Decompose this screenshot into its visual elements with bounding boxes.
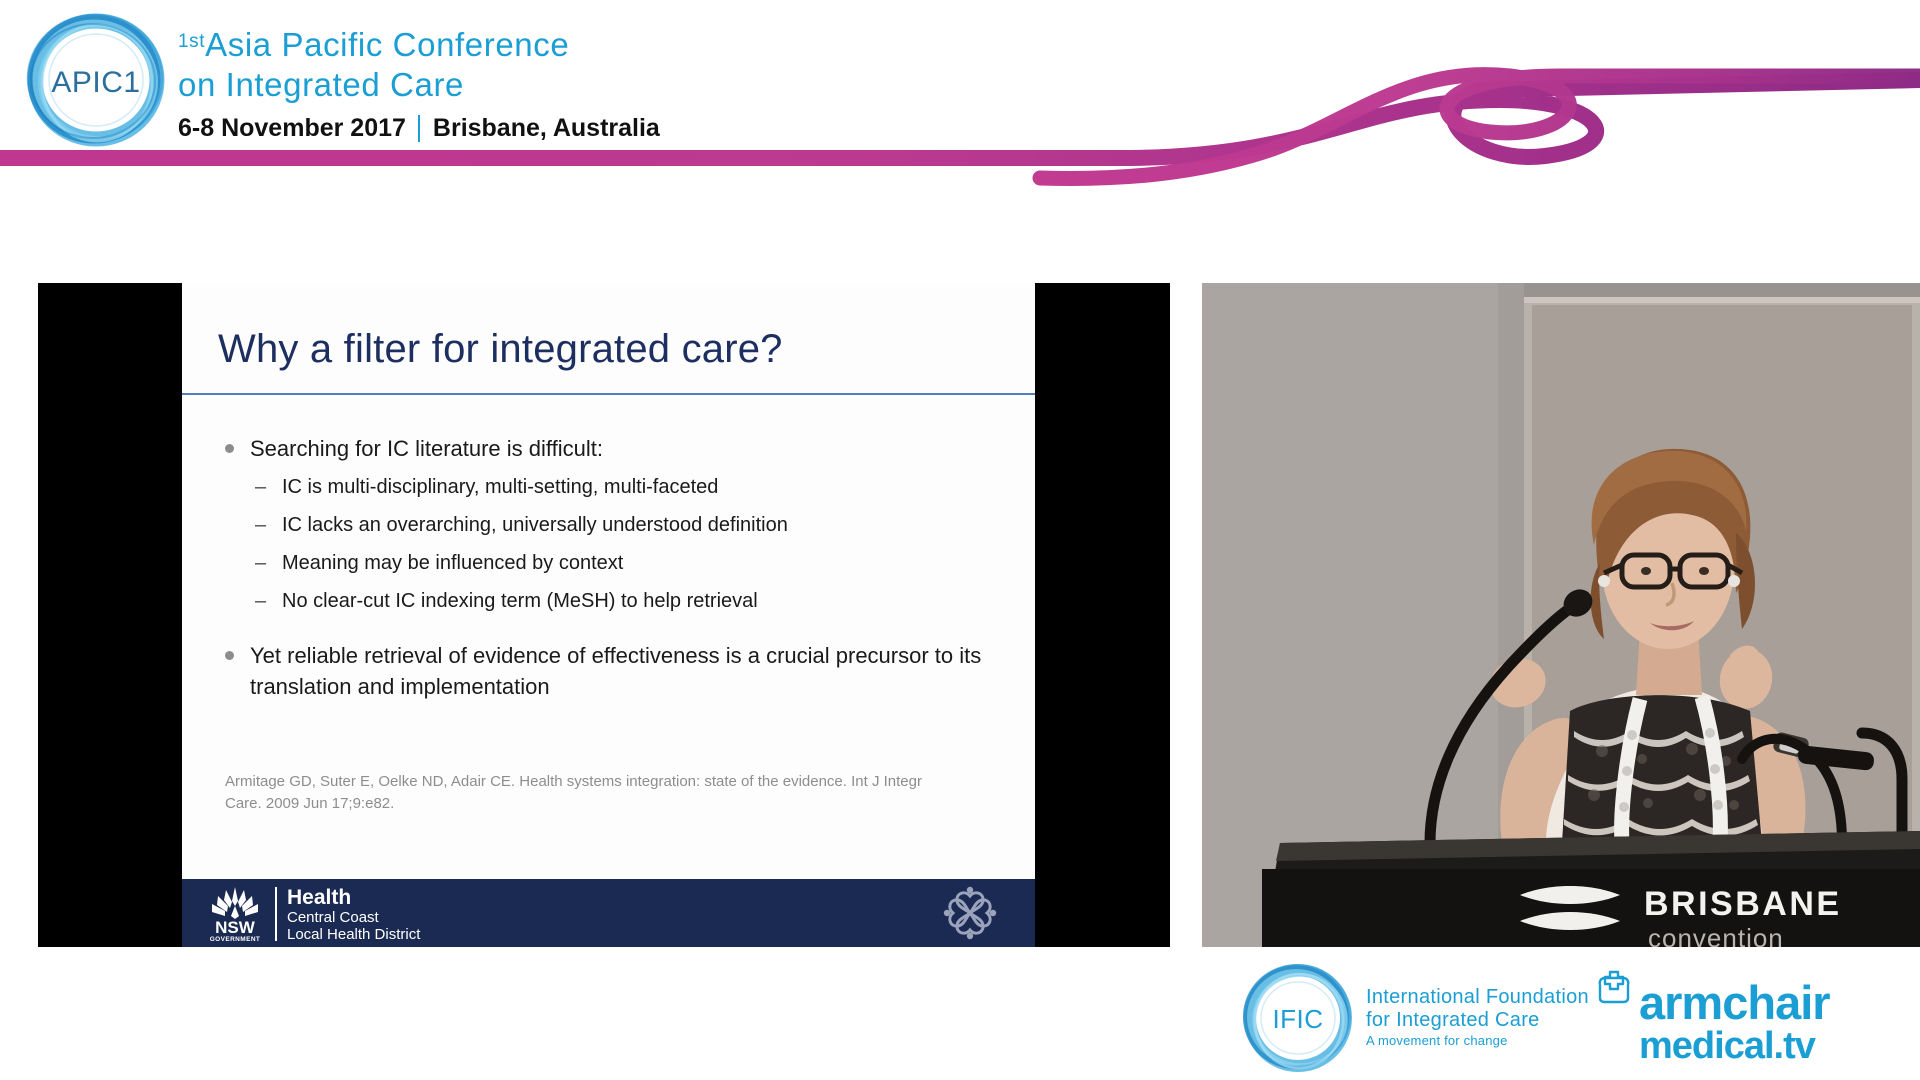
bullet-primary-text: Yet reliable retrieval of evidence of ef… [250,643,981,699]
bullet-dash-icon: – [255,511,266,540]
bullet-sub: – IC is multi-disciplinary, multi-settin… [200,473,1030,502]
conference-title-block: 1stAsia Pacific Conference on Integrated… [178,22,798,143]
bullet-sub-text: IC is multi-disciplinary, multi-setting,… [282,476,718,498]
ific-wordmark: International Foundation for Integrated … [1366,986,1589,1050]
conference-dates: 6-8 November 2017 [178,114,406,143]
podium-brisbane-text: BRISBANE [1644,885,1842,923]
bullet-sub: – IC lacks an overarching, universally u… [200,511,1030,540]
slide-citation: Armitage GD, Suter E, Oelke ND, Adair CE… [225,771,945,815]
sponsor-logos: IFIC International Foundation for Integr… [1240,962,1900,1074]
armchair-line1: armchair [1639,980,1830,1026]
bullet-sub-text: Meaning may be influenced by context [282,552,623,574]
bullet-dash-icon: – [255,549,266,578]
conference-title-line2: on Integrated Care [178,65,798,105]
bullet-primary: Yet reliable retrieval of evidence of ef… [200,640,1030,702]
nsw-health-line2: Central Coast [287,909,420,926]
bullet-sub: – Meaning may be influenced by context [200,549,1030,578]
armchair-line2: medical.tv [1639,1026,1830,1066]
bullet-sub-text: No clear-cut IC indexing term (MeSH) to … [282,590,758,612]
bullet-dash-icon: – [255,473,266,502]
nsw-government-text: GOVERNMENT [210,936,261,943]
conference-header: APIC1 1stAsia Pacific Conference on Inte… [0,0,1920,208]
slide-bullet-list: Searching for IC literature is difficult… [200,433,1030,708]
bullet-primary: Searching for IC literature is difficult… [200,433,1030,464]
slide-content: Why a filter for integrated care? Search… [182,283,1035,947]
apic1-logo-icon: APIC1 [22,12,170,148]
conference-title-line1-text: Asia Pacific Conference [205,26,569,63]
nsw-health-title: Health [287,886,420,909]
slide-panel[interactable]: Why a filter for integrated care? Search… [38,283,1170,947]
slide-title-rule [182,393,1035,395]
nsw-health-text: Health Central Coast Local Health Distri… [287,885,420,943]
nsw-abbrev-text: NSW [215,918,256,937]
ific-line1: International Foundation [1366,986,1589,1009]
nsw-health-lockup: NSW GOVERNMENT Health Central Coast Loca… [204,885,420,943]
conference-date-location: 6-8 November 2017 Brisbane, Australia [178,114,798,143]
podium-convention-text: convention [1648,923,1784,947]
slide-title: Why a filter for integrated care? [218,325,1008,373]
armchair-wordmark: armchair medical.tv [1639,980,1830,1066]
ific-line2: for Integrated Care [1366,1009,1589,1032]
conference-ordinal: 1st [178,31,205,52]
conference-title-line1: 1stAsia Pacific Conference [178,22,798,65]
cclhd-emblem-icon [943,886,997,940]
ific-mark-text: IFIC [1272,1004,1323,1034]
bullet-dot-icon [225,651,234,660]
bullet-sub-text: IC lacks an overarching, universally und… [282,514,788,536]
date-location-divider [418,115,420,142]
ific-logo: IFIC International Foundation for Integr… [1240,962,1589,1074]
armchair-cross-icon [1592,966,1636,1010]
conference-location: Brisbane, Australia [433,114,660,143]
slide-footer-bar: NSW GOVERNMENT Health Central Coast Loca… [182,879,1035,947]
apic1-logo-text: APIC1 [51,66,140,99]
ific-circle-icon: IFIC [1240,962,1360,1074]
nsw-waratah-icon: NSW GOVERNMENT [204,885,266,943]
speaker-video[interactable]: BRISBANE convention [1202,283,1920,947]
bullet-dash-icon: – [255,587,266,616]
bullet-sub: – No clear-cut IC indexing term (MeSH) t… [200,587,1030,616]
nsw-health-line3: Local Health District [287,926,420,943]
bullet-primary-text: Searching for IC literature is difficult… [250,436,603,461]
bullet-dot-icon [225,444,234,453]
nsw-lockup-divider [275,887,277,941]
ific-tagline: A movement for change [1366,1032,1589,1050]
